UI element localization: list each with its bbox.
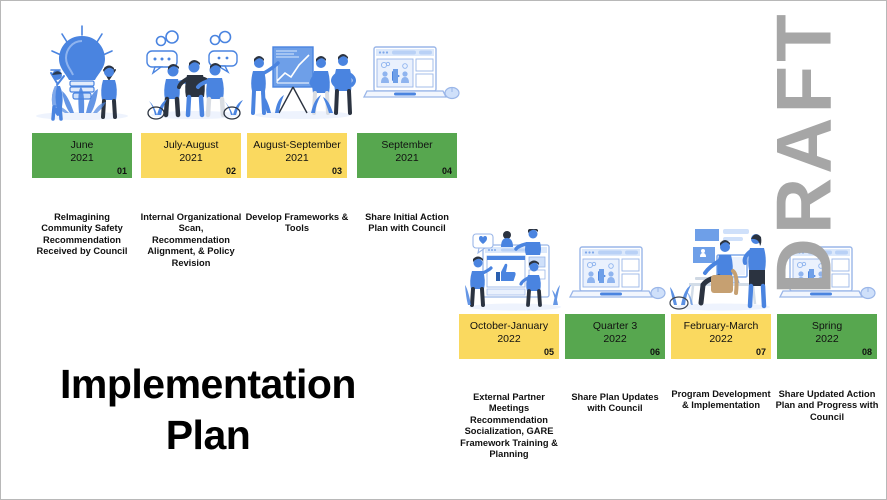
social-engagement-illustration [463,229,567,313]
milestone-card-04[interactable]: September 2021 04 [357,133,457,178]
milestone-card-02[interactable]: July-August 2021 02 [141,133,241,178]
milestone-number-07: 07 [756,347,766,357]
milestone-date-06: Quarter 3 2022 [565,320,665,345]
slide-canvas: June 2021 01 July-August 2021 02 August-… [0,0,887,500]
milestone-number-06: 06 [650,347,660,357]
laptop-presentation-illustration [567,241,667,311]
milestone-card-06[interactable]: Quarter 3 2022 06 [565,314,665,359]
milestone-description-01: ReImagining Community Safety Recommendat… [30,212,134,258]
milestone-number-01: 01 [117,166,127,176]
team-discussion-illustration [137,23,253,123]
milestone-description-04: Share Initial Action Plan with Council [355,212,459,235]
page-title: Implementation Plan [23,359,393,461]
milestone-card-05[interactable]: October-January 2022 05 [459,314,559,359]
milestone-description-06: Share Plan Updates with Council [563,392,667,415]
draft-watermark: DRAFT [759,35,850,295]
milestone-number-02: 02 [226,166,236,176]
milestone-date-04: September 2021 [357,139,457,164]
milestone-description-03: Develop Frameworks & Tools [245,212,349,235]
milestone-number-05: 05 [544,347,554,357]
milestone-date-07: February-March 2022 [671,320,771,345]
milestone-date-08: Spring 2022 [777,320,877,345]
milestone-description-07: Program Development & Implementation [669,389,773,412]
milestone-number-04: 04 [442,166,452,176]
milestone-date-02: July-August 2021 [141,139,241,164]
milestone-number-08: 08 [862,347,872,357]
presentation-chart-illustration [249,25,357,123]
milestone-card-01[interactable]: June 2021 01 [32,133,132,178]
milestone-description-05: External Partner Meetings Recommendation… [457,392,561,460]
milestone-date-03: August-September 2021 [247,139,347,164]
milestone-card-03[interactable]: August-September 2021 03 [247,133,347,178]
milestone-date-05: October-January 2022 [459,320,559,345]
milestone-number-03: 03 [332,166,342,176]
milestone-description-02: Internal Organizational Scan, Recommenda… [139,212,243,269]
milestone-card-08[interactable]: Spring 2022 08 [777,314,877,359]
milestone-card-07[interactable]: February-March 2022 07 [671,314,771,359]
milestone-description-08: Share Updated Action Plan and Progress w… [775,389,879,423]
laptop-presentation-illustration [361,41,461,111]
lightbulb-idea-illustration [29,23,135,123]
milestone-date-01: June 2021 [32,139,132,164]
